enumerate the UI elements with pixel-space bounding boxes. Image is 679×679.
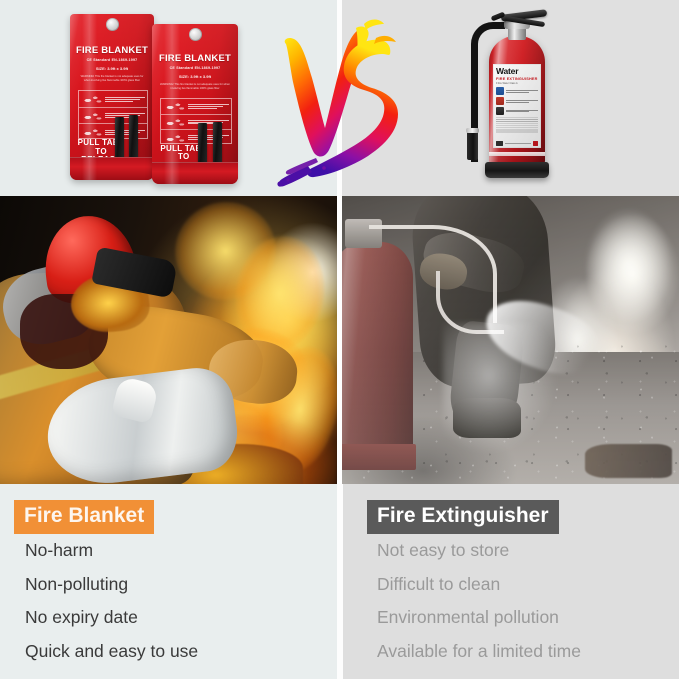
ce-mark-icon bbox=[496, 141, 503, 146]
instruction-step-text bbox=[104, 112, 147, 119]
pouch-title: FIRE BLANKET bbox=[70, 46, 154, 56]
list-item: Environmental pollution bbox=[377, 609, 581, 627]
instruction-pictogram-icon bbox=[163, 116, 187, 128]
list-item: No-harm bbox=[25, 542, 198, 560]
instruction-pictogram-icon bbox=[81, 110, 104, 122]
kitemark-icon bbox=[533, 141, 538, 146]
list-item: Non-polluting bbox=[25, 576, 198, 594]
water-fire-extinguisher: Water FIRE EXTINGUISHER 9 litre Water Cl… bbox=[455, 4, 575, 194]
list-item: No expiry date bbox=[25, 609, 198, 627]
label-pictogram-rows bbox=[496, 87, 538, 115]
hang-hole-grommet-icon bbox=[106, 18, 119, 31]
label-type: FIRE EXTINGUISHER bbox=[496, 77, 538, 81]
list-item: Not easy to store bbox=[377, 542, 581, 560]
list-item: Quick and easy to use bbox=[25, 643, 198, 661]
pouch-warning-text: WARNING! This fire blanket is not adequa… bbox=[160, 83, 231, 91]
cylinder-white-band bbox=[489, 152, 545, 156]
fire-extinguisher-in-use-photo bbox=[342, 196, 679, 484]
pouch-certification: CE Standard EN-1869-1997 bbox=[152, 66, 238, 70]
fire-blanket-pros-panel: Fire Blanket No-harm Non-polluting No ex… bbox=[0, 484, 337, 679]
no-electrical-pictogram-icon bbox=[496, 107, 504, 115]
pouch-size: SIZE: 3.9ft x 3.9ft bbox=[70, 66, 154, 71]
list-item: Difficult to clean bbox=[377, 576, 581, 594]
pouch-size: SIZE: 3.9ft x 3.9ft bbox=[152, 74, 238, 79]
class-a-pictogram-icon bbox=[496, 87, 504, 95]
fire-pictogram-icon bbox=[496, 97, 504, 105]
label-row-text bbox=[506, 99, 539, 103]
nozzle-band bbox=[466, 128, 479, 133]
instruction-step-text bbox=[187, 103, 231, 110]
fire-extinguisher-cons-panel: Fire Extinguisher Not easy to store Diff… bbox=[343, 484, 679, 679]
photo-desaturation-wash bbox=[342, 196, 679, 484]
extinguisher-nozzle bbox=[467, 130, 478, 160]
label-row bbox=[496, 107, 538, 115]
instruction-step-text bbox=[104, 129, 147, 136]
pouch-warning-text: WARNING! This fire blanket is not adequa… bbox=[78, 75, 147, 83]
fire-blanket-pouch-1: FIRE BLANKET CE Standard EN-1869-1997 SI… bbox=[70, 14, 154, 180]
label-row bbox=[496, 87, 538, 95]
pouch-certification: CE Standard EN-1869-1997 bbox=[70, 58, 154, 62]
instruction-step-text bbox=[187, 118, 231, 125]
list-item: Available for a limited time bbox=[377, 643, 581, 661]
label-footer-marks bbox=[496, 141, 538, 146]
instruction-pictogram-icon bbox=[81, 126, 104, 138]
instruction-step-text bbox=[187, 134, 231, 141]
label-fine-print-block bbox=[496, 117, 538, 133]
label-row bbox=[496, 97, 538, 105]
label-row-text bbox=[506, 109, 539, 113]
instruction-step bbox=[161, 99, 232, 115]
instruction-step bbox=[79, 91, 148, 107]
fire-blanket-heading: Fire Blanket bbox=[14, 500, 154, 534]
instruction-step-text bbox=[104, 96, 147, 103]
instruction-pictogram-icon bbox=[163, 100, 187, 112]
fire-extinguisher-feature-list: Not easy to store Difficult to clean Env… bbox=[377, 542, 581, 676]
pouch-bottom-seam bbox=[70, 157, 154, 180]
fire-blanket-feature-list: No-harm Non-polluting No expiry date Qui… bbox=[25, 542, 198, 676]
instruction-pictogram-icon bbox=[163, 132, 187, 144]
extinguisher-label: Water FIRE EXTINGUISHER 9 litre Water Cl… bbox=[493, 64, 541, 148]
extinguisher-base bbox=[485, 162, 549, 178]
hang-hole-grommet-icon bbox=[189, 28, 202, 41]
instruction-pictogram-icon bbox=[81, 93, 104, 105]
fire-blanket-heading-wrap: Fire Blanket bbox=[14, 500, 154, 534]
pouch-title: FIRE BLANKET bbox=[152, 54, 238, 64]
fire-blanket-in-use-photo bbox=[0, 196, 337, 484]
label-subline: 9 litre Water Class A bbox=[496, 82, 538, 85]
comparison-infographic: FIRE BLANKET CE Standard EN-1869-1997 SI… bbox=[0, 0, 679, 679]
pouch-bottom-seam bbox=[152, 162, 238, 184]
versus-graphic bbox=[272, 16, 404, 190]
fire-extinguisher-heading: Fire Extinguisher bbox=[367, 500, 559, 534]
fire-extinguisher-heading-wrap: Fire Extinguisher bbox=[367, 500, 559, 534]
label-row-text bbox=[506, 89, 539, 93]
fire-blanket-pouch-2: FIRE BLANKET CE Standard EN-1869-1997 SI… bbox=[152, 24, 238, 184]
label-agent-name: Water bbox=[496, 67, 538, 76]
